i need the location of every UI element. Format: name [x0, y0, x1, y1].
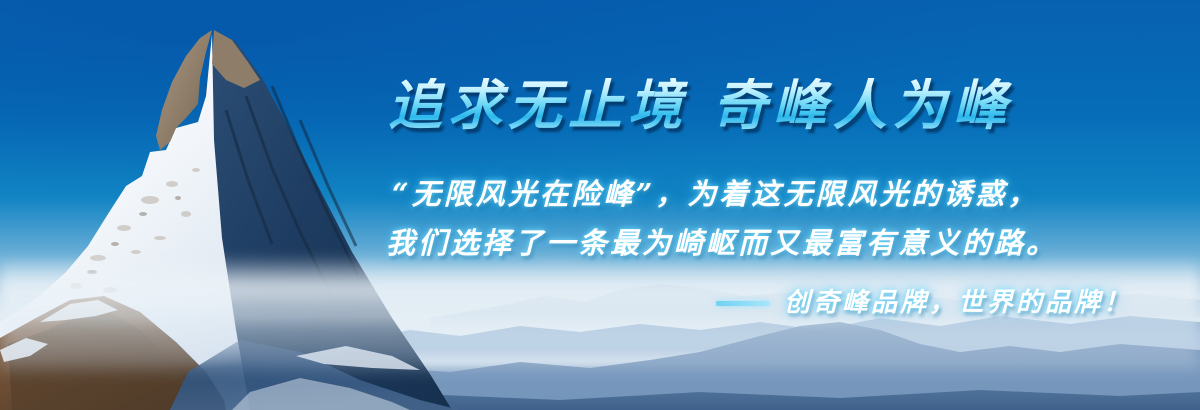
banner-attribution: 创奇峰品牌，世界的品牌！ [716, 290, 1132, 316]
banner-headline: 追求无止境 奇峰人为峰 [388, 78, 1028, 132]
hero-banner: 追求无止境 奇峰人为峰 “无限风光在险峰”，为着这无限风光的诱惑， 我们选择了一… [0, 0, 1200, 410]
banner-body-line-1: “无限风光在险峰”，为着这无限风光的诱惑， [392, 180, 1039, 209]
banner-copy: 追求无止境 奇峰人为峰 “无限风光在险峰”，为着这无限风光的诱惑， 我们选择了一… [0, 0, 1200, 410]
banner-body-line-2: 我们选择了一条最为崎岖而又最富有意义的路。 [386, 229, 1058, 258]
banner-attribution-text: 创奇峰品牌，世界的品牌！ [784, 290, 1132, 316]
em-dash-icon [716, 301, 770, 306]
